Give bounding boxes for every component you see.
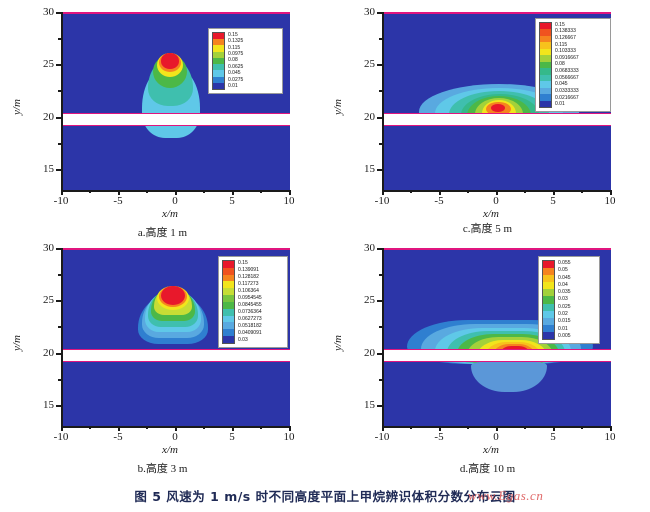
legend-label: 0.055 [558, 260, 571, 267]
legend-label: 0.025 [558, 304, 571, 311]
y-tick [377, 248, 382, 250]
y-tick-minor [58, 326, 61, 328]
legend-label: 0.15 [238, 260, 262, 267]
legend-label: 0.126667 [555, 35, 579, 42]
y-tick-minor [379, 143, 382, 145]
legend-label: 0.0627273 [238, 316, 262, 323]
y-tick [377, 117, 382, 119]
legend-label: 0.128182 [238, 274, 262, 281]
figure-caption: 图 5 风速为 1 m/s 时不同高度平面上甲烷辨识体积分数分布云图 [0, 486, 650, 505]
y-tick-label: 25 [347, 294, 375, 306]
legend-label: 0.03 [558, 296, 571, 303]
x-tick-minor [89, 190, 91, 193]
x-tick-label: -10 [362, 431, 402, 443]
legend-label: 0.005 [558, 333, 571, 340]
y-axis-a [61, 12, 63, 190]
legend-label: 0.01 [555, 101, 579, 108]
y-tick [377, 12, 382, 14]
plot-area-d: 0.055 0.05 0.045 0.04 0.035 0.03 0.025 0… [383, 248, 611, 426]
y-tick-label: 15 [26, 163, 54, 175]
y-axis-d [382, 248, 384, 426]
x-axis-title: x/m [483, 208, 499, 220]
obstacle-bar-d [383, 349, 611, 362]
x-tick-minor [146, 190, 148, 193]
x-tick-label: 5 [533, 431, 573, 443]
plot-area-c: 0.15 0.138333 0.126667 0.115 0.103333 0.… [383, 12, 611, 190]
legend-d: 0.055 0.05 0.045 0.04 0.035 0.03 0.025 0… [538, 256, 600, 344]
y-tick [377, 64, 382, 66]
y-tick-minor [58, 90, 61, 92]
legend-a: 0.15 0.1325 0.115 0.0975 0.08 0.0625 0.0… [208, 28, 283, 94]
y-tick-label: 30 [347, 6, 375, 18]
x-tick-minor [203, 426, 205, 429]
y-tick-label: 15 [347, 399, 375, 411]
legend-label: 0.0518182 [238, 323, 262, 330]
x-tick-minor [467, 190, 469, 193]
domain-top-edge-d [383, 248, 611, 250]
y-tick-label: 15 [347, 163, 375, 175]
obstacle-bar-c [383, 113, 611, 126]
x-tick-label: 0 [476, 431, 516, 443]
domain-top-edge-c [383, 12, 611, 14]
x-tick-label: 0 [155, 195, 195, 207]
plume-core-c [491, 104, 505, 112]
x-tick-minor [467, 426, 469, 429]
x-tick-label: 10 [590, 195, 630, 207]
y-tick-minor [58, 143, 61, 145]
legend-label: 0.0409091 [238, 330, 262, 337]
y-tick-minor [379, 379, 382, 381]
y-tick-minor [379, 326, 382, 328]
legend-label: 0.0736364 [238, 309, 262, 316]
legend-colorbar-d [542, 260, 555, 340]
legend-label: 0.0845455 [238, 302, 262, 309]
y-tick-label: 30 [347, 242, 375, 254]
y-tick-minor [379, 38, 382, 40]
y-tick [56, 64, 61, 66]
legend-labels-a: 0.15 0.1325 0.115 0.0975 0.08 0.0625 0.0… [228, 32, 243, 90]
x-tick-label: -5 [98, 195, 138, 207]
y-tick [56, 117, 61, 119]
figure-root: 0.15 0.1325 0.115 0.0975 0.08 0.0625 0.0… [0, 0, 650, 512]
panel-d: 0.055 0.05 0.045 0.04 0.035 0.03 0.025 0… [325, 236, 650, 476]
legend-label: 0.03 [238, 337, 262, 344]
y-tick-minor [58, 379, 61, 381]
x-tick-minor [524, 426, 526, 429]
y-axis-title: y/m [332, 321, 344, 351]
legend-colorbar-b [222, 260, 235, 344]
y-tick-label: 25 [347, 58, 375, 70]
y-tick-label: 30 [26, 242, 54, 254]
y-tick [377, 353, 382, 355]
x-tick-label: 5 [212, 431, 252, 443]
x-tick-minor [581, 190, 583, 193]
watermark: www.Egas.cn [468, 488, 543, 504]
obstacle-bar-b [62, 349, 290, 362]
legend-colorbar-c [539, 22, 552, 108]
legend-label: 0.035 [558, 289, 571, 296]
x-tick-minor [524, 190, 526, 193]
y-tick-label: 20 [347, 347, 375, 359]
y-tick [56, 353, 61, 355]
x-tick-label: -10 [41, 431, 81, 443]
y-tick-label: 25 [26, 294, 54, 306]
legend-colorbar-a [212, 32, 225, 90]
legend-labels-b: 0.15 0.139091 0.128182 0.117273 0.106364… [238, 260, 262, 344]
y-tick-minor [379, 274, 382, 276]
legend-label: 0.05 [558, 267, 571, 274]
x-tick-label: 0 [476, 195, 516, 207]
legend-label: 0.106364 [238, 288, 262, 295]
y-tick-label: 20 [347, 111, 375, 123]
y-tick-minor [58, 274, 61, 276]
y-tick-label: 15 [26, 399, 54, 411]
y-tick [56, 405, 61, 407]
obstacle-bar-a [62, 113, 290, 126]
legend-label: 0.0954545 [238, 295, 262, 302]
x-tick-minor [410, 426, 412, 429]
x-tick-label: 0 [155, 431, 195, 443]
legend-b: 0.15 0.139091 0.128182 0.117273 0.106364… [218, 256, 288, 348]
y-axis-title: y/m [11, 321, 23, 351]
panel-caption-b: b.高度 3 m [0, 460, 325, 476]
legend-label: 0.02 [558, 311, 571, 318]
panel-c: 0.15 0.138333 0.126667 0.115 0.103333 0.… [325, 0, 650, 240]
y-tick [377, 300, 382, 302]
x-axis-title: x/m [483, 444, 499, 456]
y-tick [377, 169, 382, 171]
y-axis-title: y/m [11, 85, 23, 115]
panel-b: 0.15 0.139091 0.128182 0.117273 0.106364… [0, 236, 325, 476]
y-tick [56, 169, 61, 171]
x-axis-title: x/m [162, 444, 178, 456]
x-tick-label: -5 [419, 431, 459, 443]
x-tick-label: -5 [98, 431, 138, 443]
legend-label: 0.04 [558, 282, 571, 289]
x-tick-label: 5 [533, 195, 573, 207]
legend-label: 0.01 [228, 84, 243, 90]
legend-label: 0.045 [558, 275, 571, 282]
x-tick-label: -10 [362, 195, 402, 207]
x-tick-label: 5 [212, 195, 252, 207]
y-tick [56, 300, 61, 302]
plume-secondary-lobe-d [471, 362, 547, 392]
legend-labels-d: 0.055 0.05 0.045 0.04 0.035 0.03 0.025 0… [558, 260, 571, 340]
x-tick-label: -10 [41, 195, 81, 207]
legend-labels-c: 0.15 0.138333 0.126667 0.115 0.103333 0.… [555, 22, 579, 108]
x-axis-title: x/m [162, 208, 178, 220]
x-tick-label: -5 [419, 195, 459, 207]
x-tick-minor [146, 426, 148, 429]
y-tick-label: 25 [26, 58, 54, 70]
x-tick-label: 10 [590, 431, 630, 443]
x-tick-minor [203, 190, 205, 193]
legend-c: 0.15 0.138333 0.126667 0.115 0.103333 0.… [535, 18, 611, 112]
panel-caption-c: c.高度 5 m [325, 220, 650, 236]
x-tick-minor [89, 426, 91, 429]
plot-area-b: 0.15 0.139091 0.128182 0.117273 0.106364… [62, 248, 290, 426]
legend-label: 0.0333333 [555, 88, 579, 95]
plume-core-b [161, 286, 185, 305]
x-tick-label: 10 [269, 195, 309, 207]
legend-label: 0.139091 [238, 267, 262, 274]
y-tick-minor [379, 90, 382, 92]
y-tick [56, 12, 61, 14]
plot-area-a: 0.15 0.1325 0.115 0.0975 0.08 0.0625 0.0… [62, 12, 290, 190]
legend-label: 0.117273 [238, 281, 262, 288]
y-tick-label: 20 [26, 347, 54, 359]
y-tick-minor [58, 38, 61, 40]
y-tick [377, 405, 382, 407]
y-axis-c [382, 12, 384, 190]
plume-core-a [161, 53, 179, 69]
x-tick-minor [410, 190, 412, 193]
y-axis-b [61, 248, 63, 426]
legend-label: 0.0683333 [555, 68, 579, 75]
x-tick-label: 10 [269, 431, 309, 443]
legend-label: 0.01 [558, 325, 571, 332]
domain-top-edge-a [62, 12, 290, 14]
y-tick [56, 248, 61, 250]
y-tick-label: 20 [26, 111, 54, 123]
panel-a: 0.15 0.1325 0.115 0.0975 0.08 0.0625 0.0… [0, 0, 325, 240]
y-axis-title: y/m [332, 85, 344, 115]
domain-top-edge-b [62, 248, 290, 250]
y-tick-label: 30 [26, 6, 54, 18]
x-tick-minor [260, 190, 262, 193]
legend-label: 0.015 [558, 318, 571, 325]
x-tick-minor [581, 426, 583, 429]
panel-caption-d: d.高度 10 m [325, 460, 650, 476]
x-tick-minor [260, 426, 262, 429]
